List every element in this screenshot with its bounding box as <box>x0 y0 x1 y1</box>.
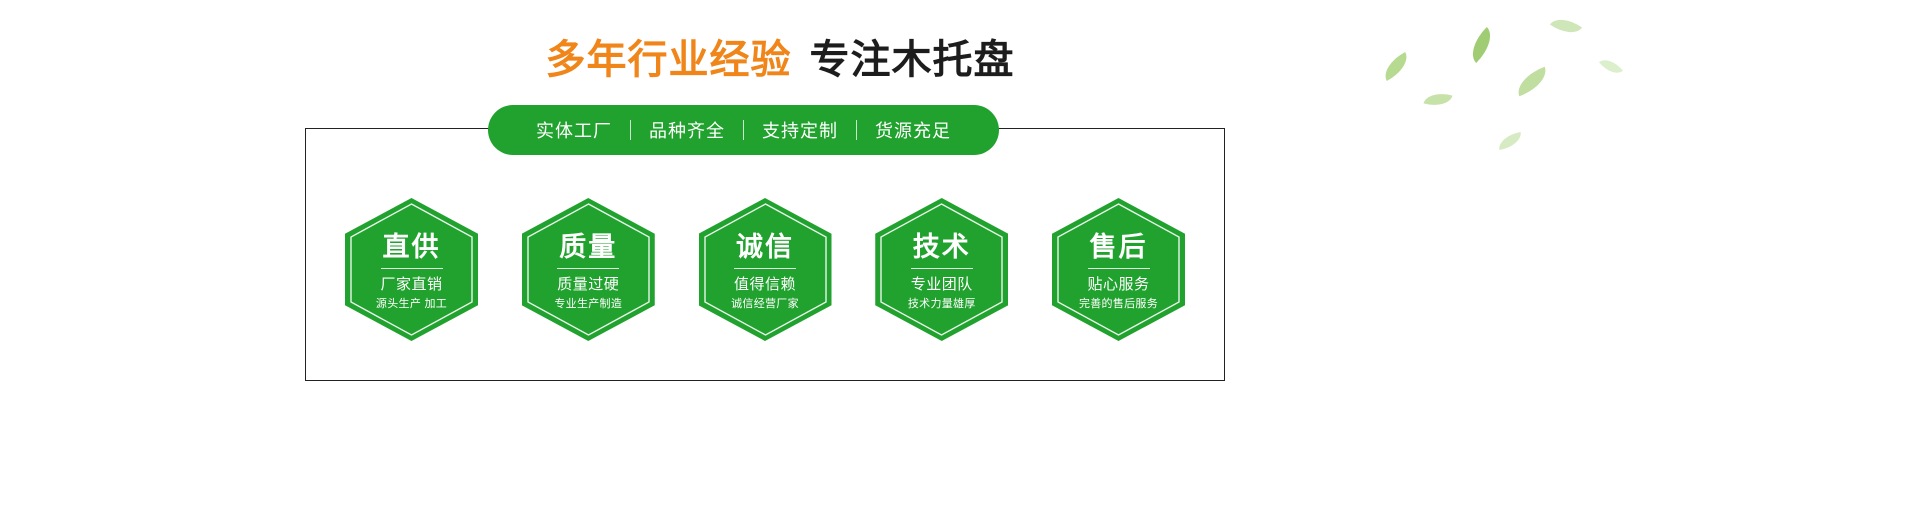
hexagon-content: 直供 厂家直销 源头生产 加工 <box>345 198 478 341</box>
hexagon-divider <box>734 268 796 269</box>
hexagon-divider <box>1088 268 1150 269</box>
page-title-highlight: 多年行业经验 <box>546 38 792 82</box>
hexagon-caption: 完善的售后服务 <box>1079 296 1158 312</box>
hexagon-caption: 源头生产 加工 <box>376 296 447 312</box>
hexagon-subtitle: 厂家直销 <box>380 275 442 294</box>
hexagon-subtitle: 值得信赖 <box>734 275 796 294</box>
hexagon-title: 售后 <box>1090 231 1148 263</box>
page-title: 多年行业经验专注木托盘 <box>0 36 1560 84</box>
hexagon-title: 质量 <box>559 231 617 263</box>
hexagon-subtitle: 质量过硬 <box>557 275 619 294</box>
pill-item-0: 实体工厂 <box>518 117 630 143</box>
hexagon-caption: 技术力量雄厚 <box>908 296 976 312</box>
hexagon-divider <box>557 268 619 269</box>
hexagon-subtitle: 贴心服务 <box>1087 275 1149 294</box>
hexagon-title: 诚信 <box>736 231 794 263</box>
hexagon-card[interactable]: 质量 质量过硬 专业生产制造 <box>522 198 655 341</box>
leaf-icon <box>1497 132 1523 150</box>
hexagon-title: 技术 <box>913 231 971 263</box>
pill-item-1: 品种齐全 <box>631 117 743 143</box>
hexagon-content: 诚信 值得信赖 诚信经营厂家 <box>699 198 832 341</box>
hexagon-divider <box>381 268 443 269</box>
hexagon-caption: 专业生产制造 <box>554 296 622 312</box>
hexagon-card[interactable]: 直供 厂家直销 源头生产 加工 <box>345 198 478 341</box>
hexagon-subtitle: 专业团队 <box>911 275 973 294</box>
hexagon-content: 质量 质量过硬 专业生产制造 <box>522 198 655 341</box>
hexagon-title: 直供 <box>383 231 441 263</box>
leaf-icon <box>1424 89 1453 110</box>
hexagon-content: 技术 专业团队 技术力量雄厚 <box>875 198 1008 341</box>
hexagon-card[interactable]: 售后 贴心服务 完善的售后服务 <box>1052 198 1185 341</box>
pill-item-2: 支持定制 <box>744 117 856 143</box>
hexagon-feature-row: 直供 厂家直销 源头生产 加工 质量 质量过硬 专业生产制造 诚信 <box>305 198 1225 348</box>
leaf-icon <box>1599 54 1623 79</box>
page-title-rest: 专注木托盘 <box>810 38 1015 82</box>
hexagon-card[interactable]: 诚信 值得信赖 诚信经营厂家 <box>699 198 832 341</box>
hexagon-divider <box>911 268 973 269</box>
banner-stage: 多年行业经验专注木托盘 实体工厂 品种齐全 支持定制 货源充足 直供 厂家直销 … <box>0 0 1920 509</box>
hexagon-card[interactable]: 技术 专业团队 技术力量雄厚 <box>875 198 1008 341</box>
feature-pill: 实体工厂 品种齐全 支持定制 货源充足 <box>488 105 999 155</box>
hexagon-content: 售后 贴心服务 完善的售后服务 <box>1052 198 1185 341</box>
hexagon-caption: 诚信经营厂家 <box>731 296 799 312</box>
pill-item-3: 货源充足 <box>857 117 969 143</box>
